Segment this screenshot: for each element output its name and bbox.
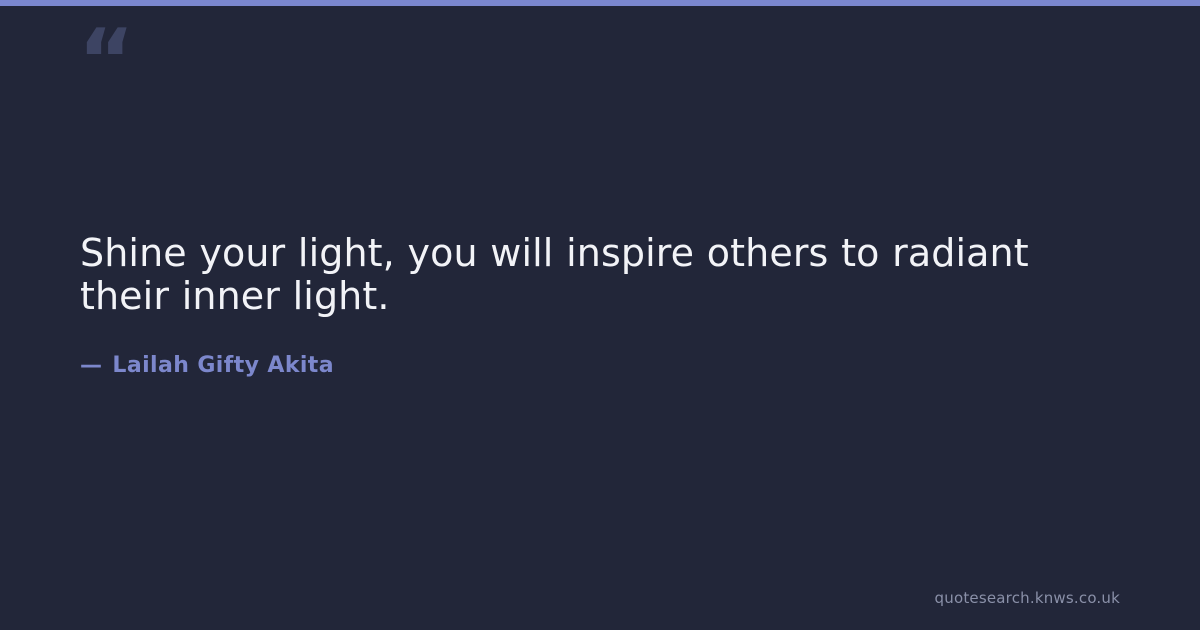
open-quote-icon: “ bbox=[78, 18, 133, 104]
author-name: Lailah Gifty Akita bbox=[112, 353, 334, 378]
attribution: — Lailah Gifty Akita bbox=[80, 317, 1120, 378]
quote-body: Shine your light, you will inspire other… bbox=[80, 232, 1120, 378]
attribution-dash: — bbox=[80, 353, 102, 378]
top-accent-bar bbox=[0, 0, 1200, 6]
quote-card: “ Shine your light, you will inspire oth… bbox=[0, 0, 1200, 630]
quote-text: Shine your light, you will inspire other… bbox=[80, 232, 1120, 317]
source-url: quotesearch.knws.co.uk bbox=[935, 589, 1120, 607]
